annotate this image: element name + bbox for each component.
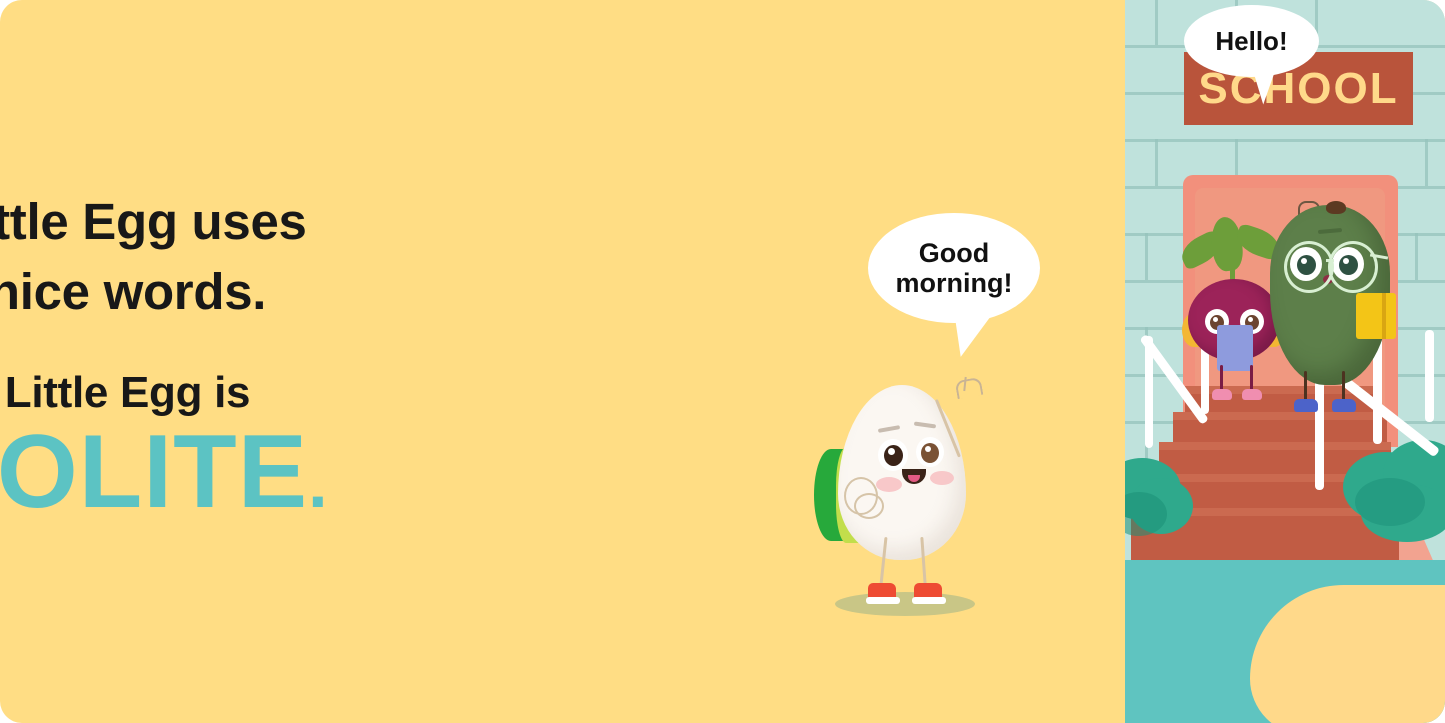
text-line-3: Little Egg is bbox=[0, 368, 690, 418]
egg-shoe-sole-left bbox=[866, 597, 900, 604]
character-avocado bbox=[1270, 195, 1390, 395]
bush-right-shade bbox=[1355, 478, 1425, 526]
avocado-book-band bbox=[1382, 293, 1386, 339]
egg-cheek-left bbox=[876, 477, 902, 492]
avocado-shoe-left bbox=[1294, 399, 1318, 412]
egg-shadow bbox=[835, 592, 975, 616]
avocado-glasses-lens-left bbox=[1284, 241, 1334, 293]
avocado-glasses-bridge bbox=[1326, 259, 1334, 262]
beet-eye-glint-right bbox=[1248, 317, 1253, 322]
beet-book bbox=[1217, 325, 1253, 371]
egg-cheek-right bbox=[930, 471, 954, 485]
character-little-egg bbox=[838, 385, 966, 560]
beet-shoe-left bbox=[1212, 389, 1232, 400]
beet-shoe-right bbox=[1242, 389, 1262, 400]
avocado-leg-left bbox=[1304, 371, 1307, 401]
text-line-1: Little Egg uses bbox=[0, 192, 690, 251]
avocado-stem bbox=[1326, 201, 1346, 214]
beet-leg-left bbox=[1220, 365, 1223, 391]
beet-eye-glint-left bbox=[1213, 317, 1218, 322]
avocado-shoe-right bbox=[1332, 399, 1356, 412]
egg-eye-glint-left bbox=[888, 448, 895, 455]
emphasis-word-group: POLITE. bbox=[0, 420, 690, 524]
step-3-top bbox=[1159, 442, 1391, 450]
hello-bubble-text: Hello! bbox=[1215, 26, 1287, 57]
beet-leg-right bbox=[1250, 365, 1253, 391]
good-morning-speech-bubble: Good morning! bbox=[868, 213, 1040, 323]
avocado-leg-right bbox=[1342, 371, 1345, 401]
character-beet bbox=[1188, 265, 1280, 360]
avocado-glasses-lens-right bbox=[1328, 241, 1378, 293]
emphasis-word: POLITE bbox=[0, 414, 308, 530]
egg-shoe-sole-right bbox=[912, 597, 946, 604]
text-line-2: nice words. bbox=[0, 262, 690, 321]
hello-speech-bubble: Hello! bbox=[1184, 5, 1319, 77]
handrail-left-post-1 bbox=[1145, 336, 1153, 448]
handrail-right-post-3 bbox=[1425, 330, 1434, 422]
egg-backpack-strap-2 bbox=[854, 493, 884, 519]
egg-eye-glint-right bbox=[925, 446, 931, 452]
text-column: Little Egg uses nice words. Little Egg i… bbox=[0, 0, 1125, 723]
good-morning-bubble-text: Good morning! bbox=[868, 238, 1040, 298]
book-page: Little Egg uses nice words. Little Egg i… bbox=[0, 0, 1445, 723]
emphasis-period: . bbox=[308, 444, 328, 522]
avocado-book bbox=[1356, 293, 1396, 339]
school-scene-illustration: SCHOOL bbox=[1125, 0, 1445, 723]
